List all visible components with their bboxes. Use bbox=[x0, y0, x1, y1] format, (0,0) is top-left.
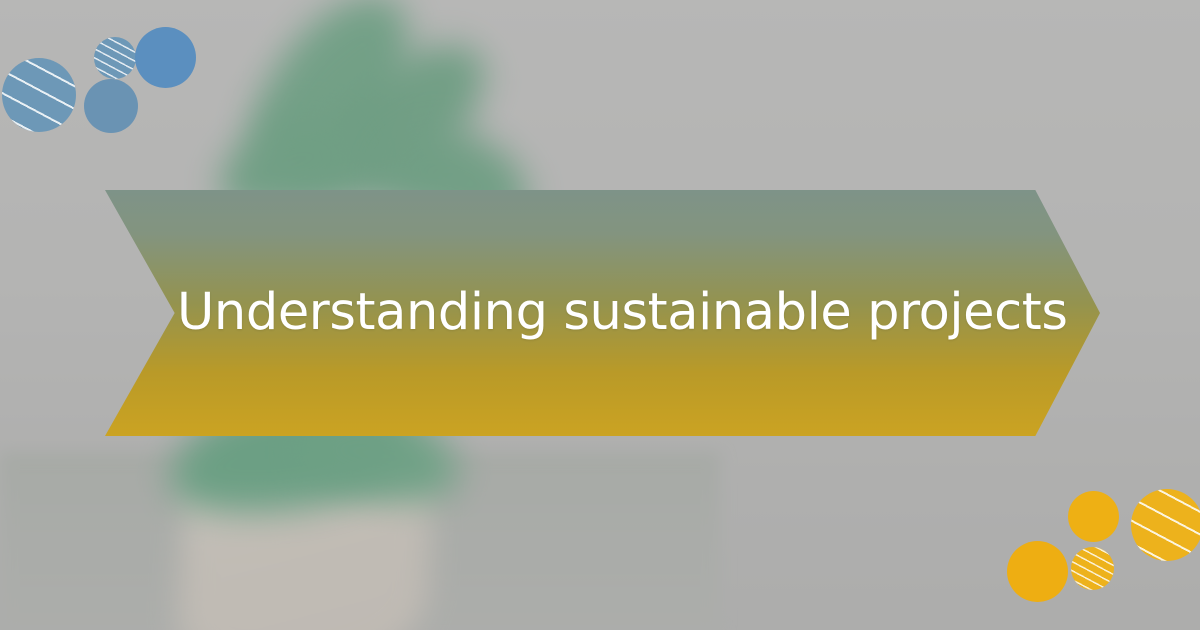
decor-circle-yellow-solid-medium bbox=[1068, 491, 1119, 542]
circle-stripe-pattern bbox=[94, 37, 136, 79]
title-banner: Understanding sustainable projects bbox=[105, 190, 1100, 436]
social-card-canvas: Understanding sustainable projects bbox=[0, 0, 1200, 630]
decor-circle-yellow-solid-large bbox=[1007, 541, 1068, 602]
circle-stripe-pattern bbox=[1071, 547, 1114, 590]
decor-circle-yellow-striped-large bbox=[1131, 489, 1200, 561]
circle-stripe-pattern bbox=[2, 58, 76, 132]
page-title: Understanding sustainable projects bbox=[177, 286, 1068, 340]
decor-circle-blue-striped-small bbox=[94, 37, 136, 79]
circle-stripe-pattern bbox=[1131, 489, 1200, 561]
decor-circle-blue-solid-medium bbox=[84, 79, 138, 133]
decor-circle-blue-solid-large bbox=[135, 27, 196, 88]
decor-circle-yellow-striped-small bbox=[1071, 547, 1114, 590]
decor-circle-blue-striped-large bbox=[2, 58, 76, 132]
